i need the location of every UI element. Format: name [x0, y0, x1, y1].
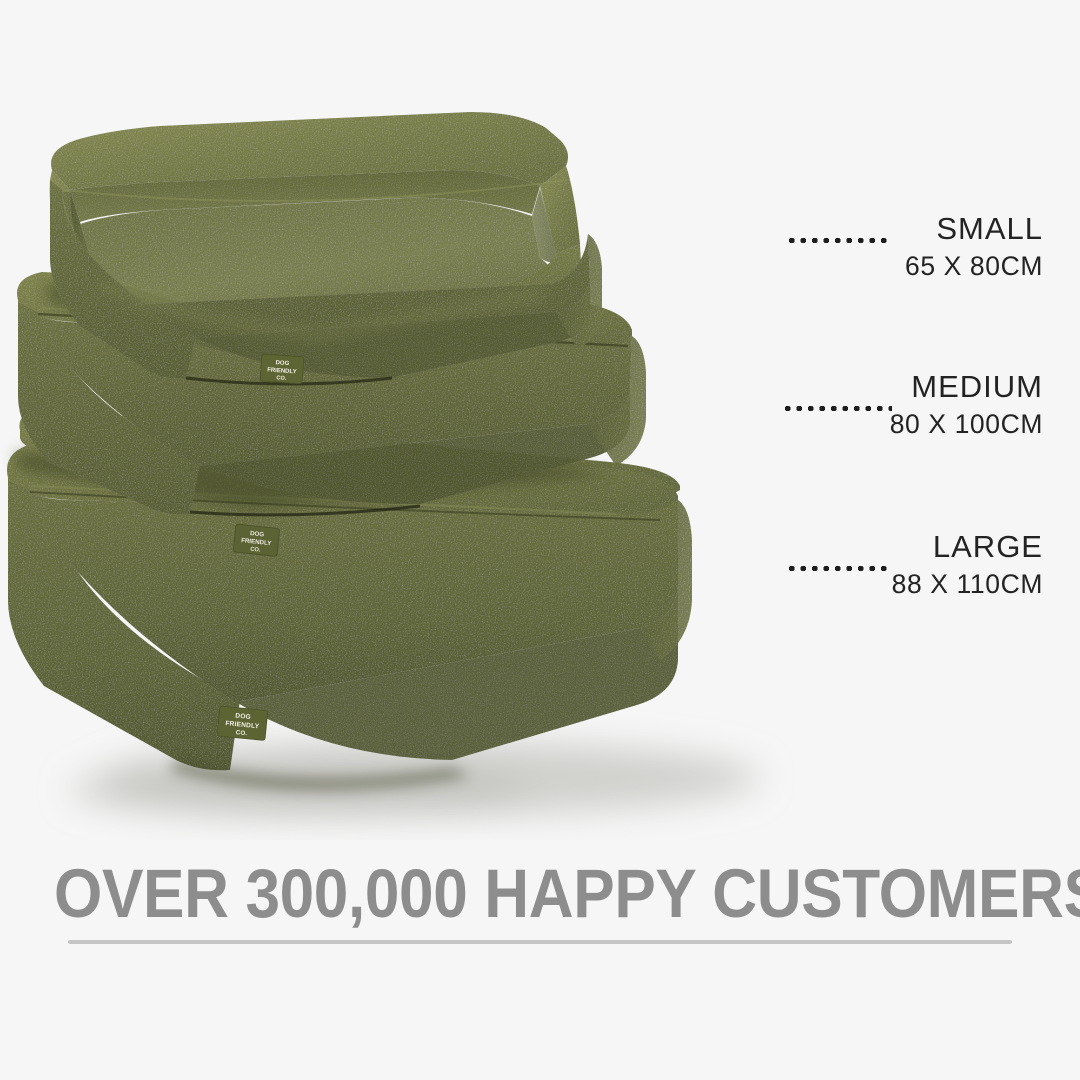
- svg-text:CO.: CO.: [276, 375, 287, 382]
- headline-text: OVER 300,000 HAPPY CUSTOMERS: [54, 860, 1026, 928]
- size-label-medium: MEDIUM: [623, 370, 1043, 405]
- size-dimensions-medium: 80 X 100CM: [623, 405, 1043, 445]
- size-dimensions-small: 65 X 80CM: [623, 247, 1043, 287]
- brand-tag-medium: DOG FRIENDLY CO.: [233, 524, 280, 556]
- svg-text:CO.: CO.: [235, 729, 247, 737]
- size-label-small: SMALL: [623, 212, 1043, 247]
- svg-text:DOG: DOG: [250, 530, 265, 538]
- size-callout-medium: MEDIUM 80 X 100CM: [623, 370, 1043, 444]
- headline-divider: [68, 940, 1012, 944]
- brand-tag-large: DOG FRIENDLY CO.: [217, 706, 268, 740]
- bed-small: DOG FRIENDLY CO.: [44, 112, 602, 384]
- size-callout-small: SMALL 65 X 80CM: [623, 212, 1043, 286]
- size-label-large: LARGE: [623, 530, 1043, 565]
- size-callout-large: LARGE 88 X 110CM: [623, 530, 1043, 604]
- footer-block: OVER 300,000 HAPPY CUSTOMERS: [0, 860, 1080, 928]
- svg-text:CO.: CO.: [250, 547, 261, 554]
- brand-tag-small: DOG FRIENDLY CO.: [260, 354, 304, 384]
- infographic-canvas: DOG FRIENDLY CO.: [0, 0, 1080, 1080]
- svg-text:DOG: DOG: [235, 713, 251, 721]
- size-dimensions-large: 88 X 110CM: [623, 565, 1043, 605]
- svg-text:DOG: DOG: [275, 360, 289, 367]
